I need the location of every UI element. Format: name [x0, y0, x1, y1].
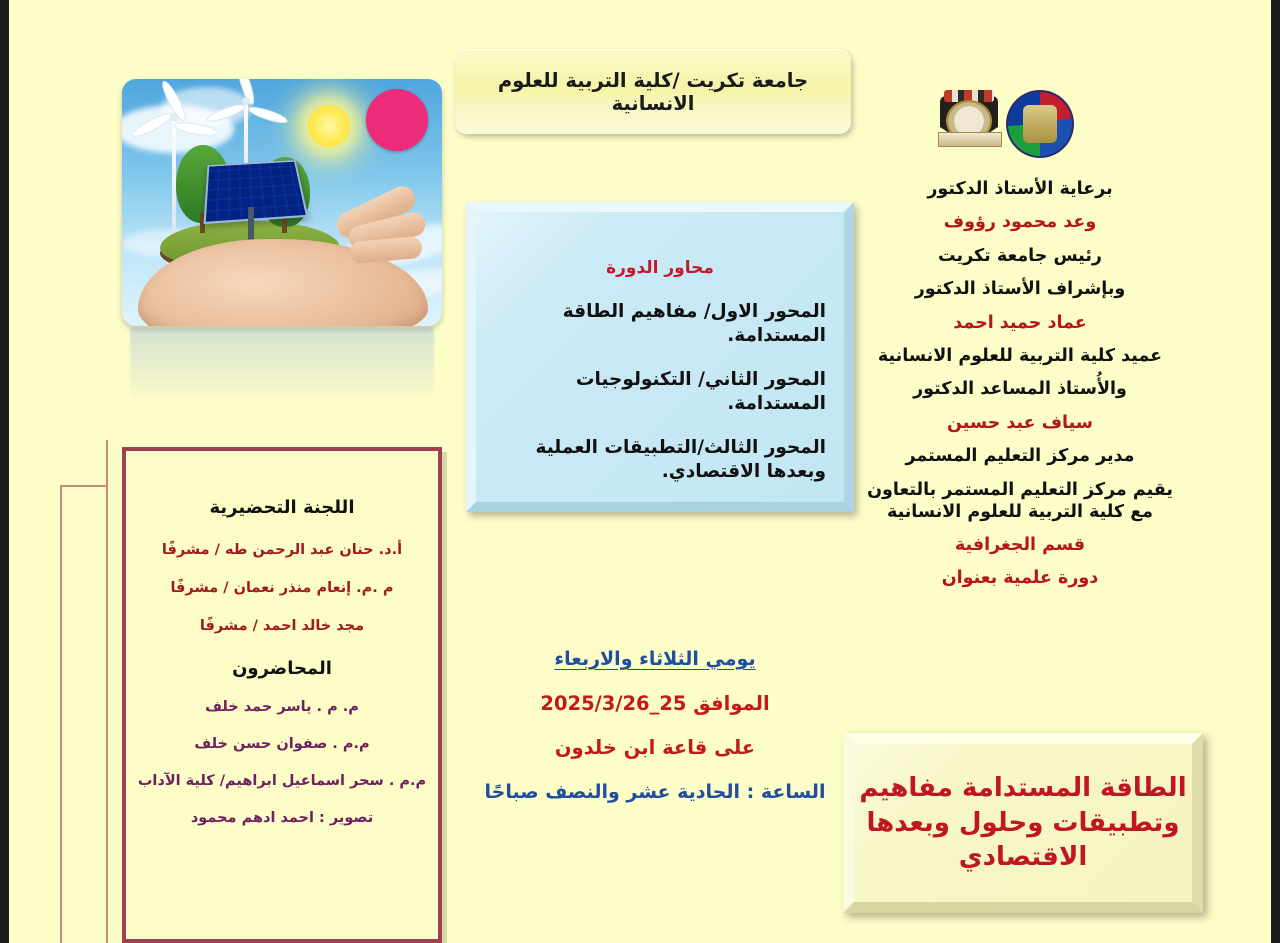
lecturer-2: م.م . صفوان حسن خلف — [126, 736, 438, 752]
right-edge-strip — [1271, 0, 1280, 943]
patronage-text-column: برعاية الأستاذ الدكتور وعد محمود رؤوف رئ… — [860, 178, 1180, 600]
iraq-ministry-emblem-icon — [1006, 90, 1074, 158]
course-axis-item-1: المحور الاول/ مفاهيم الطاقة المستدامة. — [494, 300, 826, 349]
committee-heading: اللجنة التحضيرية — [126, 497, 438, 518]
patronage-line-9: يقيم مركز التعليم المستمر بالتعاون مع كل… — [860, 479, 1180, 523]
patronage-line-6: والأُستاذ المساعد الدكتور — [860, 378, 1180, 400]
course-title-plaque: الطاقة المستدامة مفاهيم وتطبيقات وحلول و… — [843, 733, 1203, 913]
university-header-banner: جامعة تكريت /كلية التربية للعلوم الانسان… — [455, 49, 851, 134]
committee-box: اللجنة التحضيرية أ.د. حنان عبد الرحمن طه… — [122, 447, 442, 943]
shield-ribbon — [938, 132, 1002, 147]
schedule-days: يومي الثلاثاء والاربعاء — [470, 648, 840, 670]
course-title-text: الطاقة المستدامة مفاهيم وتطبيقات وحلول و… — [854, 771, 1192, 875]
patronage-line-1: وعد محمود رؤوف — [860, 211, 1180, 233]
course-axes-box: محاور الدورة المحور الاول/ مفاهيم الطاقة… — [466, 202, 854, 512]
schedule-time: الساعة : الحادية عشر والنصف صباحًا — [470, 780, 840, 805]
patronage-line-11: دورة علمية بعنوان — [860, 567, 1180, 589]
photography-credit: تصوير : احمد ادهم محمود — [126, 810, 438, 826]
emblem-group — [930, 88, 1080, 160]
course-axis-item-2: المحور الثاني/ التكنولوجيات المستدامة. — [494, 368, 826, 417]
decorative-line-inner-horizontal — [60, 485, 108, 487]
patronage-line-5: عميد كلية التربية للعلوم الانسانية — [860, 345, 1180, 367]
lecturers-heading: المحاضرون — [126, 658, 438, 679]
pink-accent-dot — [366, 89, 428, 151]
schedule-block: يومي الثلاثاء والاربعاء الموافق 25_2025/… — [470, 648, 840, 805]
solar-panel-icon — [203, 160, 308, 224]
schedule-date: الموافق 25_2025/3/26 — [470, 692, 840, 715]
patronage-line-8: مدير مركز التعليم المستمر — [860, 445, 1180, 467]
schedule-venue: على قاعة ابن خلدون — [470, 736, 840, 759]
left-edge-strip — [0, 0, 9, 943]
photo-reflection — [130, 328, 434, 402]
committee-member-3: مجد خالد احمد / مشرفًا — [126, 618, 438, 634]
course-axis-item-3: المحور الثالث/التطبيقات العملية وبعدها ا… — [494, 436, 826, 485]
tikrit-university-emblem-icon — [936, 90, 1002, 158]
university-header-text: جامعة تكريت /كلية التربية للعلوم الانسان… — [455, 69, 851, 115]
decorative-line-outer-vertical — [106, 440, 108, 943]
solar-panel-leg — [248, 207, 254, 241]
lecturer-1: م. م . ياسر حمد خلف — [126, 699, 438, 715]
patronage-line-0: برعاية الأستاذ الدكتور — [860, 178, 1180, 200]
patronage-line-10: قسم الجغرافية — [860, 534, 1180, 556]
shield-crest — [944, 90, 994, 102]
poster-canvas: جامعة تكريت /كلية التربية للعلوم الانسان… — [0, 0, 1280, 943]
lecturer-3: م.م . سحر اسماعيل ابراهيم/ كلية الآداب — [126, 773, 438, 789]
decorative-line-inner-vertical — [60, 485, 62, 943]
renewable-energy-photo — [122, 79, 442, 326]
course-axes-title: محاور الدورة — [494, 258, 826, 278]
patronage-line-3: وبإشراف الأستاذ الدكتور — [860, 278, 1180, 300]
committee-member-1: أ.د. حنان عبد الرحمن طه / مشرفًا — [126, 542, 438, 558]
patronage-line-7: سياف عبد حسين — [860, 412, 1180, 434]
patronage-line-4: عماد حميد احمد — [860, 312, 1180, 334]
committee-member-2: م .م. إنعام منذر نعمان / مشرفًا — [126, 580, 438, 596]
patronage-line-2: رئيس جامعة تكريت — [860, 245, 1180, 267]
tree-trunk — [282, 217, 287, 233]
